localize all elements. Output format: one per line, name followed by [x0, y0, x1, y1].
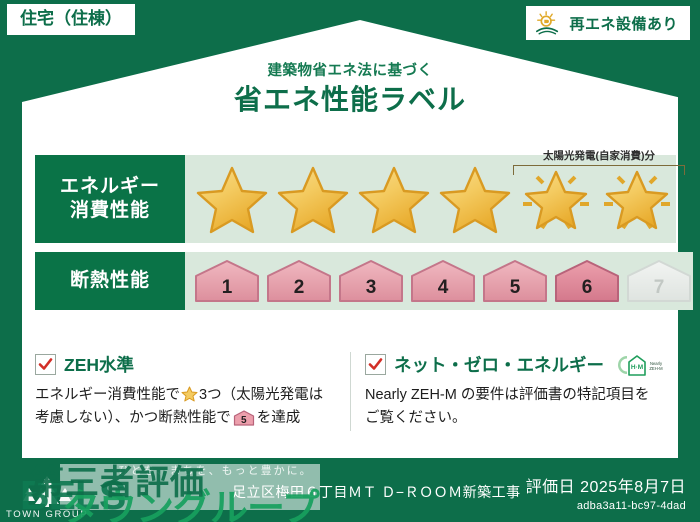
renewable-energy-badge: 再エネ設備あり: [526, 6, 690, 40]
sun-icon: [534, 10, 562, 36]
insulation-grade-number: 5: [481, 277, 549, 299]
energy-performance-label: 住宅（住棟） 再エネ設備あり 建築物省エネ法に基づく 省エネ性能ラベル: [0, 0, 700, 522]
energy-label-line2: 消費性能: [70, 199, 150, 223]
criteria-columns: ZEH水準 エネルギー消費性能で3つ（太陽光発電は考慮しない）、かつ断熱性能で5…: [35, 352, 665, 431]
star-item-solar: [598, 159, 676, 239]
star-strip: 太陽光発電(自家消費)分: [187, 155, 676, 243]
evaluation-date-value: 2025年8月7日: [580, 479, 686, 496]
insulation-grade-number: 3: [337, 277, 405, 299]
evaluation-date-label: 評価日: [526, 479, 576, 496]
insulation-performance-row: 断熱性能 1: [35, 252, 665, 310]
project-address: 足立区梅田６丁目ＭＴ Ｄ−ＲＯＯＭ新築工事: [232, 482, 521, 502]
insulation-grade-number: 7: [625, 277, 693, 299]
net-zero-energy-column: ネット・ゼロ・エネルギー H·M Nearly ZEH-M Nearly ZEH…: [350, 352, 665, 431]
star-item: [274, 159, 352, 239]
insulation-grade-item: 3: [337, 258, 405, 304]
insulation-grade-area: 1 2 3: [185, 252, 693, 310]
title-subtitle: 建築物省エネ法に基づく: [0, 63, 700, 80]
evaluation-info: 評価日 2025年8月7日 adba3a11-bc97-4dad: [526, 473, 686, 512]
insulation-grade-number: 6: [553, 277, 621, 299]
insulation-grade-item: 2: [265, 258, 333, 304]
insulation-grade-item-achieved: 6: [553, 258, 621, 304]
net-zero-energy-header: ネット・ゼロ・エネルギー H·M Nearly ZEH-M: [365, 352, 651, 377]
zeh-standard-title: ZEH水準: [64, 352, 134, 377]
zeh-standard-column: ZEH水準 エネルギー消費性能で3つ（太陽光発電は考慮しない）、かつ断熱性能で5…: [35, 352, 350, 431]
insulation-performance-label: 断熱性能: [35, 252, 185, 310]
star-item-solar: [517, 159, 595, 239]
insulation-grade-item: 4: [409, 258, 477, 304]
energy-performance-row: エネルギー 消費性能: [35, 155, 665, 243]
check-icon: [35, 354, 56, 375]
energy-performance-label: エネルギー 消費性能: [35, 155, 185, 243]
star-rating-area: 太陽光発電(自家消費)分: [185, 155, 676, 243]
zeh-m-house-logo-icon: H·M Nearly ZEH-M: [612, 353, 667, 377]
star-item: [193, 159, 271, 239]
svg-text:ZEH-M: ZEH-M: [649, 366, 663, 371]
insulation-grade-number: 1: [193, 277, 261, 299]
insulation-grade-inline-number: 5: [233, 416, 255, 426]
zeh-standard-header: ZEH水準: [35, 352, 336, 377]
zeh-body-prefix: エネルギー消費性能で: [35, 387, 180, 403]
insulation-label-line1: 断熱性能: [70, 269, 150, 293]
star-item: [355, 159, 433, 239]
insulation-grade-item: 1: [193, 258, 261, 304]
star-item: [436, 159, 514, 239]
zeh-body-suffix: を達成: [257, 410, 301, 426]
insulation-grade-number: 2: [265, 277, 333, 299]
footer-bar: 足立区梅田６丁目ＭＴ Ｄ−ＲＯＯＭ新築工事 評価日 2025年8月7日 adba…: [0, 460, 700, 522]
renewable-energy-badge-label: 再エネ設備あり: [569, 13, 678, 34]
evaluation-date: 評価日 2025年8月7日: [526, 473, 686, 497]
svg-text:H·M: H·M: [631, 364, 643, 371]
document-id: adba3a11-bc97-4dad: [526, 500, 686, 512]
building-type-tag: 住宅（住棟）: [7, 4, 135, 35]
insulation-grade-item-inactive: 7: [625, 258, 693, 304]
house-grade-strip: 1 2 3: [185, 252, 693, 310]
label-title-block: 建築物省エネ法に基づく 省エネ性能ラベル: [0, 63, 700, 117]
insulation-grade-item: 5: [481, 258, 549, 304]
insulation-grade-number: 4: [409, 277, 477, 299]
check-icon: [365, 354, 386, 375]
zeh-standard-body: エネルギー消費性能で3つ（太陽光発電は考慮しない）、かつ断熱性能で5を達成: [35, 384, 336, 431]
title-main: 省エネ性能ラベル: [0, 82, 700, 117]
net-zero-energy-title: ネット・ゼロ・エネルギー: [394, 352, 604, 377]
insulation-grade-inline-icon: 5: [233, 410, 255, 426]
performance-rows: エネルギー 消費性能: [35, 155, 665, 319]
net-zero-energy-body: Nearly ZEH-M の要件は評価書の特記項目をご覧ください。: [365, 384, 651, 431]
star-icon: [181, 386, 198, 402]
energy-label-line1: エネルギー: [60, 175, 160, 199]
